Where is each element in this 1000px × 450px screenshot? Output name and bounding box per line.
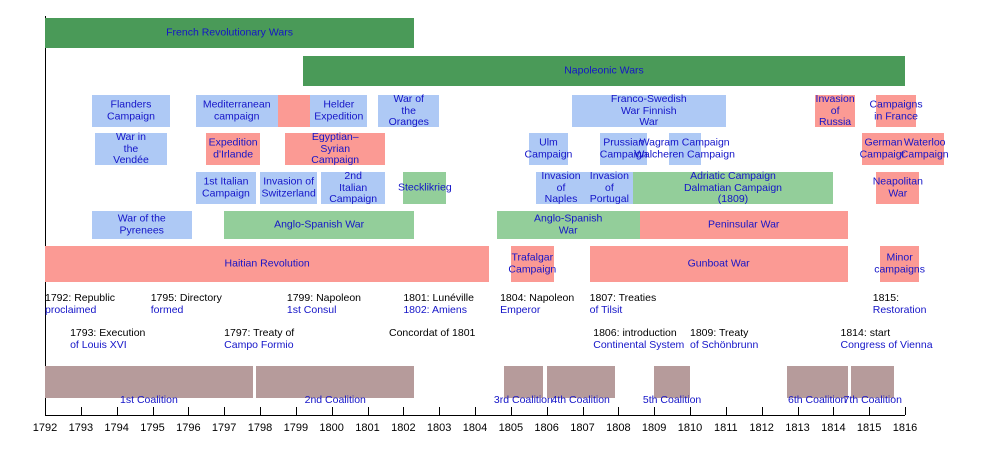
axis-tick-label: 1793 bbox=[69, 422, 93, 434]
timeline-bar[interactable]: 2nd Italian Campaign bbox=[321, 172, 386, 204]
axis-tick-label: 1811 bbox=[714, 422, 738, 434]
coalition-label: 1st Coalition bbox=[120, 394, 178, 406]
axis-tick-label: 1795 bbox=[140, 422, 164, 434]
timeline-bar-label: Neapolitan War bbox=[873, 177, 923, 200]
axis-tick-label: 1813 bbox=[785, 422, 809, 434]
event-line-1: Concordat of 1801 bbox=[389, 327, 475, 339]
axis-tick bbox=[439, 407, 440, 415]
axis-tick bbox=[188, 407, 189, 415]
timeline-bar[interactable] bbox=[278, 95, 310, 127]
axis-tick-label: 1810 bbox=[678, 422, 702, 434]
axis-tick-label: 1814 bbox=[821, 422, 845, 434]
axis-tick bbox=[618, 407, 619, 415]
axis-tick bbox=[403, 407, 404, 415]
event-annotation-bottom: Concordat of 1801 bbox=[389, 327, 475, 339]
timeline-bar-label: Expedition d'Irlande bbox=[209, 138, 258, 161]
event-line-2: Restoration bbox=[873, 304, 927, 316]
event-annotation-top: 1804: NapoleonEmperor bbox=[500, 292, 574, 316]
axis-tick bbox=[511, 407, 512, 415]
timeline-bar-label: Gunboat War bbox=[688, 258, 750, 270]
axis-tick-label: 1807 bbox=[570, 422, 594, 434]
timeline-bar[interactable]: Gunboat War bbox=[590, 246, 848, 282]
timeline-chart: 1792179317941795179617971798179918001801… bbox=[0, 0, 1000, 450]
axis-tick-label: 1801 bbox=[355, 422, 379, 434]
timeline-bar[interactable]: Expedition d'Irlande bbox=[206, 133, 260, 165]
timeline-bar[interactable]: War of the Pyrenees bbox=[92, 211, 192, 239]
axis-vertical bbox=[45, 16, 46, 415]
axis-tick-label: 1797 bbox=[212, 422, 236, 434]
event-annotation-bottom: 1814: startCongress of Vienna bbox=[841, 327, 933, 351]
event-line-1: 1793: Execution bbox=[70, 327, 145, 339]
timeline-bar-label: War in the Vendée bbox=[113, 132, 149, 167]
event-line-1: 1814: start bbox=[841, 327, 933, 339]
coalition-label: 2nd Coalition bbox=[305, 394, 366, 406]
timeline-bar-label: War of the Oranges bbox=[389, 94, 429, 129]
axis-tick-label: 1792 bbox=[33, 422, 57, 434]
axis-tick-label: 1808 bbox=[606, 422, 630, 434]
coalition-label: 6th Coalition bbox=[788, 394, 846, 406]
axis-tick-label: 1794 bbox=[104, 422, 128, 434]
timeline-bar[interactable]: Minor campaigns bbox=[880, 246, 919, 282]
timeline-bar[interactable]: War in the Vendée bbox=[95, 133, 167, 165]
timeline-bar-label: Waterloo Campaign bbox=[901, 138, 949, 161]
timeline-bar[interactable]: Campaigns in France bbox=[876, 95, 915, 127]
timeline-bar-label: Ulm Campaign bbox=[525, 138, 573, 161]
axis-tick-label: 1809 bbox=[642, 422, 666, 434]
event-line-2: Emperor bbox=[500, 304, 574, 316]
axis-tick bbox=[153, 407, 154, 415]
axis-tick bbox=[332, 407, 333, 415]
event-line-1: 1804: Napoleon bbox=[500, 292, 574, 304]
event-line-2: Continental System bbox=[593, 339, 684, 351]
axis-tick bbox=[833, 407, 834, 415]
timeline-bar-label: Trafalgar Campaign bbox=[508, 253, 556, 276]
event-line-1: 1801: Lunéville bbox=[403, 292, 474, 304]
event-annotation-top: 1815:Restoration bbox=[873, 292, 927, 316]
axis-tick bbox=[869, 407, 870, 415]
axis-tick-label: 1798 bbox=[248, 422, 272, 434]
event-line-1: 1799: Napoleon bbox=[287, 292, 361, 304]
timeline-bar-label: Invasion of Naples bbox=[541, 171, 580, 206]
timeline-bar-label: Stecklikrieg bbox=[398, 182, 452, 194]
axis-tick bbox=[45, 407, 46, 415]
timeline-bar[interactable]: Adriatic Campaign Dalmatian Campaign (18… bbox=[633, 172, 834, 204]
event-line-1: 1795: Directory bbox=[151, 292, 222, 304]
axis-tick bbox=[654, 407, 655, 415]
timeline-bar[interactable]: Egyptian–Syrian Campaign bbox=[285, 133, 385, 165]
axis-tick-label: 1806 bbox=[534, 422, 558, 434]
timeline-bar-label: Egyptian–Syrian Campaign bbox=[310, 132, 360, 167]
coalition-label: 7th Coalition bbox=[844, 394, 902, 406]
event-line-2: proclaimed bbox=[45, 304, 115, 316]
timeline-bar-label: Flanders Campaign bbox=[107, 100, 155, 123]
event-line-1: 1806: introduction bbox=[593, 327, 684, 339]
event-line-1: 1809: Treaty bbox=[690, 327, 758, 339]
coalition-label: 3rd Coalition bbox=[494, 394, 553, 406]
timeline-bar-label: 2nd Italian Campaign bbox=[329, 171, 377, 206]
event-line-2: Congress of Vienna bbox=[841, 339, 933, 351]
timeline-bar[interactable]: Ulm Campaign bbox=[529, 133, 568, 165]
coalition-label: 4th Coalition bbox=[552, 394, 610, 406]
timeline-bar-label: Haitian Revolution bbox=[225, 258, 310, 270]
event-line-2: formed bbox=[151, 304, 222, 316]
timeline-bar-label: Invasion of Russia bbox=[816, 94, 855, 129]
timeline-bar-label: Anglo-Spanish War bbox=[532, 214, 604, 237]
timeline-bar[interactable]: Invasion of Portugal bbox=[586, 172, 633, 204]
event-line-1: 1815: bbox=[873, 292, 927, 304]
axis-tick bbox=[368, 407, 369, 415]
timeline-bar[interactable]: Franco-Swedish War Finnish War bbox=[572, 95, 726, 127]
timeline-bar[interactable]: Flanders Campaign bbox=[92, 95, 171, 127]
timeline-bar[interactable]: Napoleonic Wars bbox=[303, 56, 905, 86]
timeline-bar[interactable]: German Campaign bbox=[862, 133, 905, 165]
axis-tick-label: 1803 bbox=[427, 422, 451, 434]
axis-tick bbox=[117, 407, 118, 415]
axis-tick-label: 1802 bbox=[391, 422, 415, 434]
axis-tick bbox=[726, 407, 727, 415]
event-line-2: of Schönbrunn bbox=[690, 339, 758, 351]
event-line-2: Campo Formio bbox=[224, 339, 294, 351]
event-annotation-top: 1807: Treatiesof Tilsit bbox=[590, 292, 657, 316]
timeline-bar[interactable]: Invasion of Switzerland bbox=[260, 172, 317, 204]
timeline-bar[interactable]: Invasion of Naples bbox=[536, 172, 586, 204]
axis-tick bbox=[690, 407, 691, 415]
timeline-bar[interactable]: Peninsular War bbox=[640, 211, 848, 239]
event-annotation-bottom: 1809: Treatyof Schönbrunn bbox=[690, 327, 758, 351]
timeline-bar[interactable]: Helder Expedition bbox=[310, 95, 367, 127]
timeline-bar-label: Anglo-Spanish War bbox=[274, 219, 364, 231]
timeline-bar-label: War of the Pyrenees bbox=[117, 214, 167, 237]
axis-tick bbox=[547, 407, 548, 415]
timeline-bar-label: Invasion of Switzerland bbox=[262, 177, 316, 200]
timeline-bar[interactable]: Waterloo Campaign bbox=[905, 133, 944, 165]
axis-tick-label: 1815 bbox=[857, 422, 881, 434]
axis-tick-label: 1805 bbox=[499, 422, 523, 434]
axis-tick bbox=[260, 407, 261, 415]
event-annotation-top: 1801: Lunéville1802: Amiens bbox=[403, 292, 474, 316]
event-line-2: 1st Consul bbox=[287, 304, 361, 316]
event-annotation-bottom: 1797: Treaty ofCampo Formio bbox=[224, 327, 294, 351]
timeline-bar-label: Campaigns in France bbox=[869, 100, 922, 123]
timeline-bar-label: Wagram Campaign Walcheren Campaign bbox=[634, 138, 735, 161]
axis-tick-label: 1800 bbox=[319, 422, 343, 434]
timeline-bar-label: Invasion of Portugal bbox=[590, 171, 629, 206]
axis-horizontal bbox=[45, 415, 905, 416]
event-annotation-bottom: 1793: Executionof Louis XVI bbox=[70, 327, 145, 351]
timeline-bar[interactable]: Trafalgar Campaign bbox=[511, 246, 554, 282]
timeline-bar-label: 1st Italian Campaign bbox=[202, 177, 250, 200]
timeline-bar[interactable]: Anglo-Spanish War bbox=[497, 211, 640, 239]
timeline-bar-label: Adriatic Campaign Dalmatian Campaign (18… bbox=[683, 171, 783, 206]
timeline-bar[interactable]: 1st Italian Campaign bbox=[196, 172, 257, 204]
axis-tick-label: 1812 bbox=[749, 422, 773, 434]
timeline-bar[interactable]: Haitian Revolution bbox=[45, 246, 489, 282]
axis-tick bbox=[905, 407, 906, 415]
timeline-bar[interactable]: French Revolutionary Wars bbox=[45, 18, 414, 48]
timeline-bar[interactable]: Invasion of Russia bbox=[815, 95, 854, 127]
timeline-bar-label: Peninsular War bbox=[708, 219, 779, 231]
axis-tick bbox=[583, 407, 584, 415]
timeline-bar-label: Franco-Swedish War Finnish War bbox=[610, 94, 687, 129]
timeline-bar[interactable]: Stecklikrieg bbox=[403, 172, 446, 204]
event-line-1: 1792: Republic bbox=[45, 292, 115, 304]
timeline-bar-label: Mediterranean campaign bbox=[203, 100, 271, 123]
event-line-2: of Louis XVI bbox=[70, 339, 145, 351]
event-annotation-top: 1795: Directoryformed bbox=[151, 292, 222, 316]
axis-tick bbox=[475, 407, 476, 415]
timeline-bar[interactable]: War of the Oranges bbox=[378, 95, 439, 127]
axis-tick-label: 1796 bbox=[176, 422, 200, 434]
timeline-bar[interactable]: Wagram Campaign Walcheren Campaign bbox=[669, 133, 701, 165]
coalition-label: 5th Coalition bbox=[643, 394, 701, 406]
timeline-bar-label: Napoleonic Wars bbox=[564, 65, 644, 77]
axis-tick bbox=[798, 407, 799, 415]
axis-tick bbox=[224, 407, 225, 415]
timeline-bar[interactable]: Anglo-Spanish War bbox=[224, 211, 414, 239]
event-line-2: of Tilsit bbox=[590, 304, 657, 316]
event-line-2: 1802: Amiens bbox=[403, 304, 474, 316]
axis-tick bbox=[81, 407, 82, 415]
timeline-bar-label: French Revolutionary Wars bbox=[166, 27, 293, 39]
axis-tick bbox=[762, 407, 763, 415]
event-annotation-top: 1799: Napoleon1st Consul bbox=[287, 292, 361, 316]
axis-tick-label: 1816 bbox=[893, 422, 917, 434]
event-line-1: 1807: Treaties bbox=[590, 292, 657, 304]
axis-tick-label: 1799 bbox=[284, 422, 308, 434]
axis-tick-label: 1804 bbox=[463, 422, 487, 434]
timeline-bar[interactable]: Neapolitan War bbox=[876, 172, 919, 204]
axis-tick bbox=[296, 407, 297, 415]
timeline-bar[interactable]: Mediterranean campaign bbox=[196, 95, 278, 127]
event-annotation-top: 1792: Republicproclaimed bbox=[45, 292, 115, 316]
timeline-bar-label: Helder Expedition bbox=[314, 100, 363, 123]
timeline-bar-label: Minor campaigns bbox=[874, 253, 925, 276]
event-annotation-bottom: 1806: introductionContinental System bbox=[593, 327, 684, 351]
event-line-1: 1797: Treaty of bbox=[224, 327, 294, 339]
